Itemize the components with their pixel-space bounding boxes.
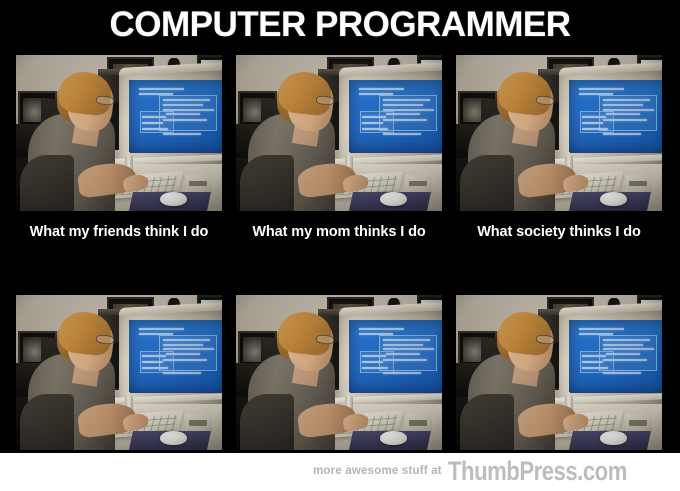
meme-image: COMPUTER PROGRAMMER [0, 0, 680, 491]
code-lines [355, 86, 442, 146]
programmer-at-desk-photo [456, 55, 662, 211]
programmer-at-desk-photo [236, 55, 442, 211]
code-lines [355, 326, 442, 386]
computer-mouse [600, 192, 627, 206]
panel-3: What society thinks I do [456, 55, 662, 253]
panel-4-photo [16, 295, 222, 450]
code-lines [575, 86, 662, 146]
panel-3-caption: What society thinks I do [456, 211, 662, 253]
computer-mouse [160, 431, 187, 445]
code-lines [135, 326, 222, 386]
panel-2-caption: What my mom thinks I do [236, 211, 442, 253]
programmer-at-desk-photo [236, 295, 442, 450]
panel-1: What my friends think I do [16, 55, 222, 253]
code-lines [575, 326, 662, 386]
panel-1-photo [16, 55, 222, 211]
crt-screen-blue [349, 80, 442, 153]
person-shoulder [240, 155, 294, 211]
computer-mouse [160, 192, 187, 206]
person-shoulder [20, 155, 74, 211]
person-shoulder [460, 155, 514, 211]
person-shoulder [240, 394, 294, 450]
panel-3-photo [456, 55, 662, 211]
panel-6-photo [456, 295, 662, 450]
computer-mouse [600, 431, 627, 445]
crt-screen-blue [569, 80, 662, 153]
panel-1-caption: What my friends think I do [16, 211, 222, 253]
panel-2: What my mom thinks I do [236, 55, 442, 253]
code-lines [135, 86, 222, 146]
crt-screen-blue [349, 320, 442, 393]
watermark-brand: ThumbPress.com [448, 458, 627, 485]
page-title: COMPUTER PROGRAMMER [0, 6, 680, 44]
panel-5-photo [236, 295, 442, 450]
programmer-at-desk-photo [16, 55, 222, 211]
crt-screen-blue [129, 320, 222, 393]
meme-card: COMPUTER PROGRAMMER [0, 0, 680, 453]
watermark-prefix: more awesome stuff at [313, 465, 442, 478]
watermark: more awesome stuff at ThumbPress.com [313, 452, 666, 490]
panel-2-photo [236, 55, 442, 211]
panel-grid: What my friends think I do [16, 55, 664, 491]
person-shoulder [460, 394, 514, 450]
crt-screen-blue [569, 320, 662, 393]
footer: more awesome stuff at ThumbPress.com [0, 453, 680, 491]
programmer-at-desk-photo [456, 295, 662, 450]
computer-mouse [380, 192, 407, 206]
person-shoulder [20, 394, 74, 450]
computer-mouse [380, 431, 407, 445]
programmer-at-desk-photo [16, 295, 222, 450]
crt-screen-blue [129, 80, 222, 153]
